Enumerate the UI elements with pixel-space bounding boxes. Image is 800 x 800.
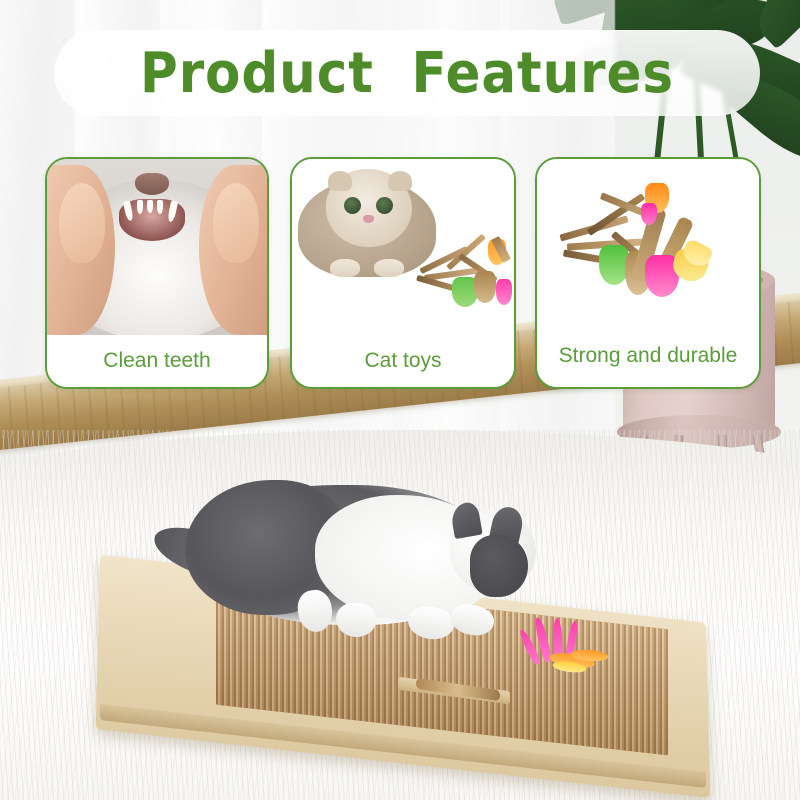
feature-card-label: Clean teeth [47,335,267,387]
cream-cat-eye [376,197,393,214]
product-feature-infographic: Product Features [0,0,800,800]
cream-cat-nose [363,215,374,223]
cat-toys-photo [292,159,514,335]
cat-open-mouth [119,199,185,241]
feature-cards: Clean teeth [0,0,800,800]
feature-card-clean-teeth[interactable]: Clean teeth [45,157,269,389]
feature-card-cat-toys[interactable]: Cat toys [290,157,516,389]
feature-card-strong-and-durable[interactable]: Strong and durable [535,157,761,389]
clean-teeth-photo [47,159,267,335]
cream-cat-ear [328,171,352,191]
feature-card-label: Cat toys [292,335,514,387]
feature-card-label: Strong and durable [537,325,759,387]
cream-cat-eye [344,197,361,214]
cream-cat-paw [330,259,360,277]
cream-cat-ear [388,171,412,191]
strong-durable-photo [537,159,759,325]
cream-cat-paw [374,259,404,277]
cat-nose [135,173,169,195]
